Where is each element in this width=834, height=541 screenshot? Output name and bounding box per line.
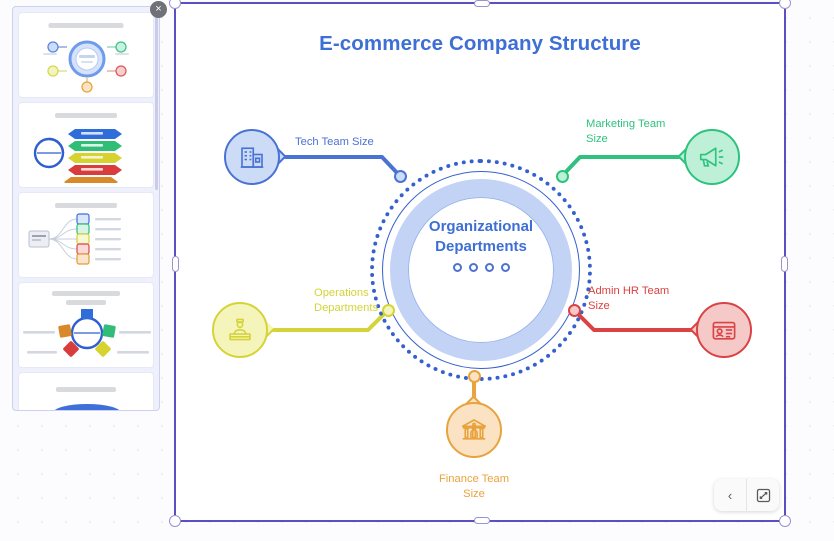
- thumb-preview-circular-nodes: [19, 309, 153, 361]
- node-bubble: [684, 129, 740, 185]
- handle-top-center[interactable]: [474, 0, 490, 7]
- thumb-preview-mindmap: [19, 211, 153, 273]
- list-item[interactable]: [19, 373, 153, 411]
- node-admin-hr[interactable]: [696, 302, 752, 358]
- node-bubble: [446, 402, 502, 458]
- list-item[interactable]: [19, 283, 153, 367]
- slide-canvas[interactable]: E-commerce Company Structure: [174, 2, 786, 522]
- junction-dot-tech: [394, 170, 407, 183]
- center-dot: [469, 263, 478, 272]
- bank-building-icon: [459, 415, 489, 445]
- node-bubble: [696, 302, 752, 358]
- thumb-title-bar: [49, 23, 124, 28]
- node-tech[interactable]: [224, 129, 280, 185]
- page-title: E-commerce Company Structure: [176, 32, 784, 56]
- junction-dot-marketing: [556, 170, 569, 183]
- node-label-admin-hr: Admin HR Team Size: [588, 284, 669, 313]
- handle-bottom-left[interactable]: [169, 515, 181, 527]
- list-item[interactable]: [19, 193, 153, 277]
- node-label-marketing: Marketing Team Size: [586, 117, 665, 146]
- id-card-icon: [709, 315, 739, 345]
- junction-dot-finance: [468, 370, 481, 383]
- node-bubble: [212, 302, 268, 358]
- thumb-title-bar: [55, 113, 117, 118]
- template-panel[interactable]: [12, 6, 160, 411]
- office-building-icon: [237, 142, 267, 172]
- app-root: E-commerce Company Structure: [0, 0, 834, 541]
- thumb-preview-radial-hub: [19, 33, 153, 93]
- node-label-operations: Operations Departments: [314, 286, 378, 315]
- panel-scrollbar[interactable]: [155, 10, 158, 190]
- thumb-title-bar: [52, 291, 120, 296]
- thumb-preview-arrow-list: [19, 123, 153, 183]
- fullscreen-icon: [755, 487, 772, 504]
- thumb-title-bar: [56, 387, 116, 392]
- node-operations[interactable]: [212, 302, 268, 358]
- thumb-subtitle-bar: [66, 300, 106, 305]
- list-item[interactable]: [19, 103, 153, 187]
- canvas-toolbar[interactable]: ‹: [714, 479, 779, 511]
- list-item[interactable]: [19, 13, 153, 97]
- handle-left-middle[interactable]: [172, 256, 179, 272]
- presenter-desk-icon: [225, 315, 255, 345]
- center-hub[interactable]: Organizational Departments: [370, 159, 592, 381]
- handle-right-middle[interactable]: [781, 256, 788, 272]
- node-bubble: [224, 129, 280, 185]
- center-dot: [453, 263, 462, 272]
- center-dot-row: [370, 263, 592, 272]
- center-label: Organizational Departments: [398, 217, 564, 257]
- megaphone-icon: [697, 142, 727, 172]
- node-marketing[interactable]: [684, 129, 740, 185]
- present-fullscreen-button[interactable]: [747, 479, 779, 511]
- collapse-panel-button[interactable]: ‹: [714, 479, 746, 511]
- thumb-title-bar: [55, 203, 117, 208]
- handle-bottom-center[interactable]: [474, 517, 490, 524]
- thumb-preview-banner: [19, 399, 153, 411]
- node-finance[interactable]: [446, 402, 502, 458]
- center-dot: [501, 263, 510, 272]
- junction-dot-operations: [382, 304, 395, 317]
- slide-content: E-commerce Company Structure: [176, 4, 784, 520]
- junction-dot-admin-hr: [568, 304, 581, 317]
- node-label-tech: Tech Team Size: [295, 135, 374, 150]
- close-icon[interactable]: ×: [150, 1, 167, 18]
- center-dot: [485, 263, 494, 272]
- handle-bottom-right[interactable]: [779, 515, 791, 527]
- node-label-finance: Finance Team Size: [424, 472, 524, 501]
